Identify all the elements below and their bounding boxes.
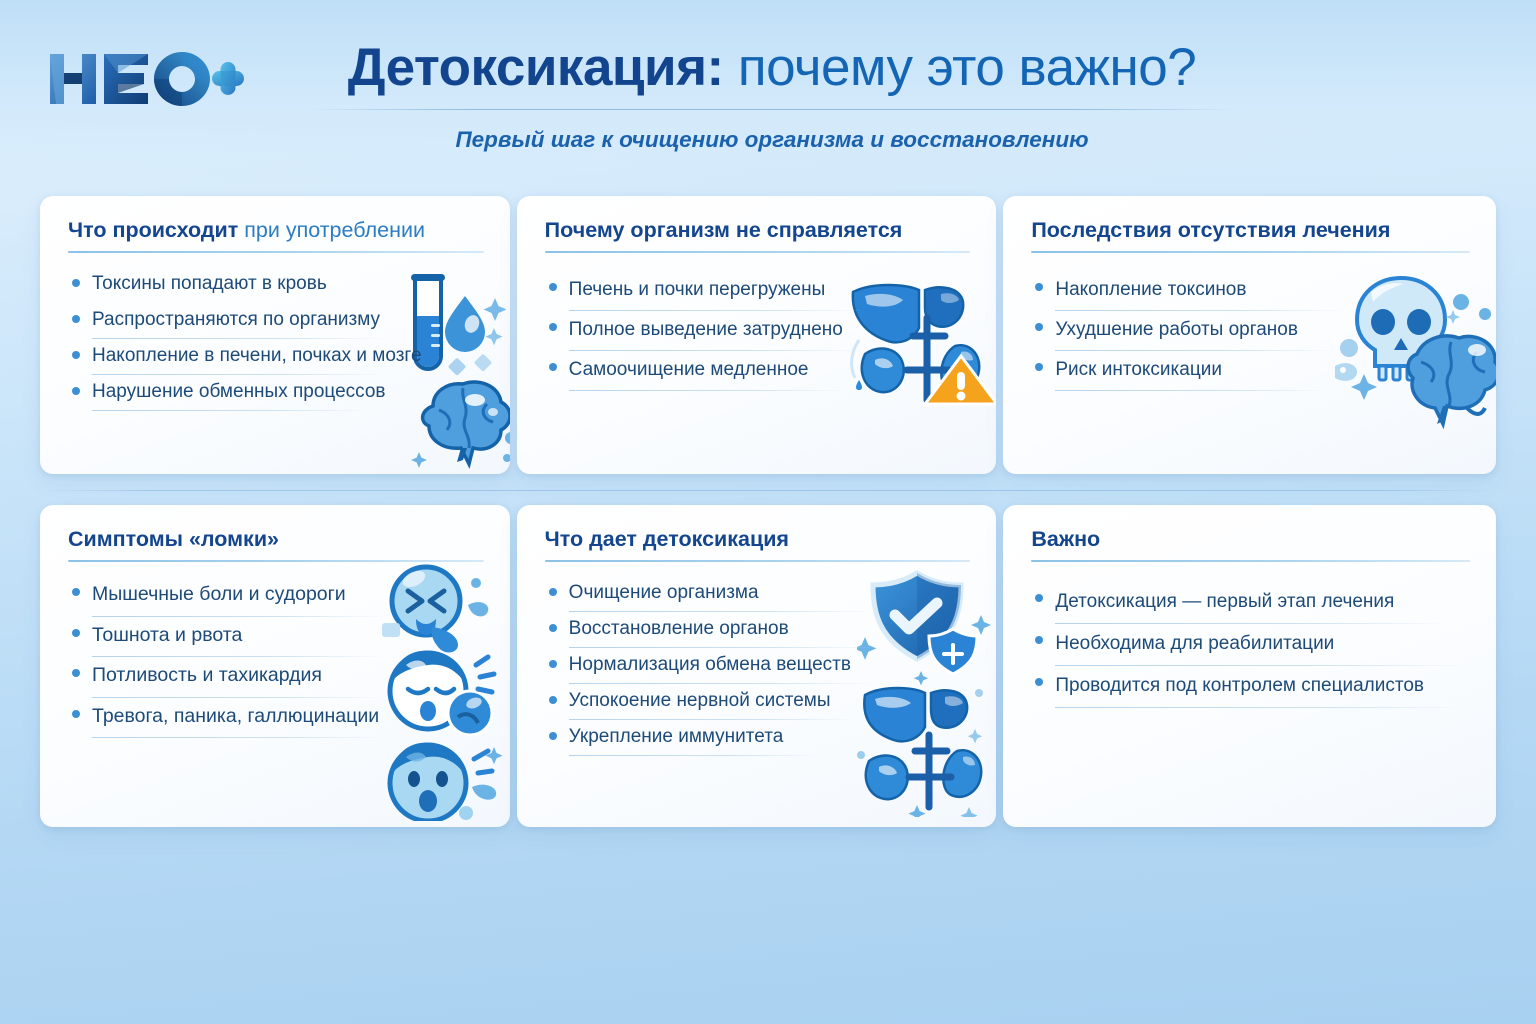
cards-row-bottom: Симптомы «ломки»: [0, 505, 1536, 827]
neo-plus-logo: [48, 48, 244, 110]
list-item[interactable]: Укрепление иммунитета: [547, 720, 997, 756]
page-title-light: почему это важно?: [724, 38, 1197, 97]
page-subtitle: Первый шаг к очищению организма и восста…: [272, 127, 1272, 153]
page-header: Детоксикация: почему это важно? Первый ш…: [0, 0, 1536, 190]
list-item[interactable]: Полное выведение затруднено: [547, 311, 997, 351]
list-item[interactable]: Накопление токсинов: [1033, 271, 1496, 311]
card-item-list: Печень и почки перегружены Полное выведе…: [517, 253, 997, 391]
list-item[interactable]: Самоочищение медленное: [547, 351, 997, 391]
page-title-bold: Детоксикация:: [348, 38, 724, 97]
card-heading-bold: Почему организм не справляется: [545, 218, 903, 242]
list-item[interactable]: Успокоение нервной системы: [547, 684, 997, 720]
list-item[interactable]: Необходима для реабилитации: [1033, 624, 1496, 666]
list-item[interactable]: Ухудшение работы органов: [1033, 311, 1496, 351]
item-underline: [92, 737, 384, 738]
card-heading: Последствия отсутствия лечения: [1003, 196, 1496, 243]
list-item[interactable]: Риск интоксикации: [1033, 351, 1496, 391]
list-item-label: Накопление в печени, почках и мозге: [92, 339, 428, 374]
card-item-list: Детоксикация — первый этап лечения Необх…: [1003, 562, 1496, 708]
list-item-label: Самоочищение медленное: [569, 351, 815, 390]
list-item-label: Тошнота и рвота: [92, 617, 248, 657]
list-item[interactable]: Очищение организма: [547, 576, 997, 612]
card-item-list: Очищение организма Восстановление органо…: [517, 562, 997, 756]
list-item-label: Восстановление органов: [569, 612, 795, 647]
card-heading-bold: Что происходит: [68, 218, 238, 242]
cards-row-top: Что происходит при употреблении: [0, 196, 1536, 474]
card-heading-bold: Симптомы «ломки»: [68, 527, 279, 551]
card-item-list: Токсины попадают в кровь Распространяютс…: [40, 253, 510, 411]
item-underline: [92, 410, 370, 411]
card-heading: Важно: [1003, 505, 1496, 552]
card-why-body-fails[interactable]: Почему организм не справляется: [517, 196, 997, 474]
list-item[interactable]: Нормализация обмена веществ: [547, 648, 997, 684]
page-title: Детоксикация: почему это важно?: [272, 38, 1272, 99]
grid-row-divider: [44, 490, 1492, 491]
list-item[interactable]: Тревога, паника, галлюцинации: [70, 698, 510, 739]
list-item[interactable]: Проводится под контролем специалистов: [1033, 666, 1496, 708]
list-item-label: Токсины попадают в кровь: [92, 267, 333, 302]
card-heading: Что происходит при употреблении: [40, 196, 510, 243]
list-item-label: Печень и почки перегружены: [569, 271, 832, 310]
list-item-label: Ухудшение работы органов: [1055, 311, 1304, 350]
list-item-label: Распространяются по организму: [92, 303, 386, 338]
list-item-label: Необходима для реабилитации: [1055, 624, 1340, 665]
title-divider: [307, 109, 1237, 110]
card-heading-bold: Последствия отсутствия лечения: [1031, 218, 1390, 242]
list-item[interactable]: Токсины попадают в кровь: [70, 267, 510, 303]
shocked-face-icon: [390, 743, 503, 821]
list-item-label: Успокоение нервной системы: [569, 684, 837, 719]
card-heading-bold: Важно: [1031, 527, 1100, 551]
card-important[interactable]: Важно Детоксикация — первый этап лечения…: [1003, 505, 1496, 827]
list-item-label: Очищение организма: [569, 576, 765, 611]
list-item-label: Проводится под контролем специалистов: [1055, 666, 1430, 707]
list-item-label: Накопление токсинов: [1055, 271, 1252, 310]
list-item[interactable]: Нарушение обменных процессов: [70, 375, 510, 411]
list-item[interactable]: Тошнота и рвота: [70, 617, 510, 658]
list-item-label: Детоксикация — первый этап лечения: [1055, 582, 1400, 623]
list-item-label: Риск интоксикации: [1055, 351, 1228, 390]
list-item-label: Нарушение обменных процессов: [92, 375, 392, 410]
card-heading-bold: Что дает детоксикация: [545, 527, 789, 551]
list-item[interactable]: Потливость и тахикардия: [70, 657, 510, 698]
list-item-label: Тревога, паника, галлюцинации: [92, 698, 385, 738]
card-item-list: Накопление токсинов Ухудшение работы орг…: [1003, 253, 1496, 391]
card-what-happens[interactable]: Что происходит при употреблении: [40, 196, 510, 474]
item-underline: [1055, 390, 1327, 391]
list-item[interactable]: Мышечные боли и судороги: [70, 576, 510, 617]
card-withdrawal-symptoms[interactable]: Симптомы «ломки»: [40, 505, 510, 827]
list-item-label: Нормализация обмена веществ: [569, 648, 857, 683]
card-heading-light: при употреблении: [238, 218, 425, 242]
title-block: Детоксикация: почему это важно? Первый ш…: [272, 38, 1272, 153]
card-detox-benefits[interactable]: Что дает детоксикация: [517, 505, 997, 827]
item-underline: [1055, 707, 1467, 708]
list-item-label: Мышечные боли и судороги: [92, 576, 352, 616]
list-item[interactable]: Распространяются по организму: [70, 303, 510, 339]
list-item[interactable]: Детоксикация — первый этап лечения: [1033, 582, 1496, 624]
card-consequences-no-treatment[interactable]: Последствия отсутствия лечения: [1003, 196, 1496, 474]
cards-grid: Что происходит при употреблении: [0, 196, 1536, 827]
item-underline: [569, 755, 819, 756]
card-heading: Почему организм не справляется: [517, 196, 997, 243]
list-item[interactable]: Восстановление органов: [547, 612, 997, 648]
card-heading: Симптомы «ломки»: [40, 505, 510, 552]
list-item[interactable]: Накопление в печени, почках и мозге: [70, 339, 510, 375]
list-item-label: Укрепление иммунитета: [569, 720, 790, 755]
card-item-list: Мышечные боли и судороги Тошнота и рвота…: [40, 562, 510, 738]
list-item[interactable]: Печень и почки перегружены: [547, 271, 997, 311]
list-item-label: Потливость и тахикардия: [92, 657, 328, 697]
card-heading: Что дает детоксикация: [517, 505, 997, 552]
item-underline: [569, 390, 847, 391]
list-item-label: Полное выведение затруднено: [569, 311, 849, 350]
